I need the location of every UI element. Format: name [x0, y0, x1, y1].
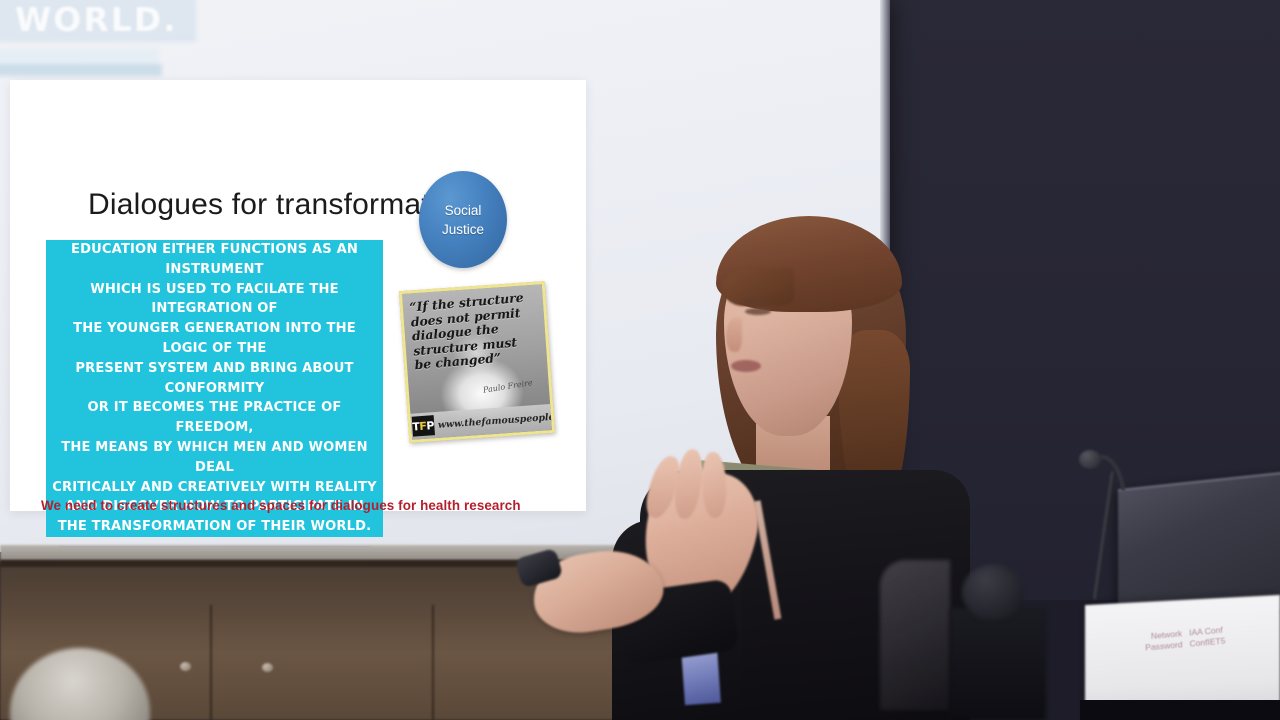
- quote-line: WHICH IS USED TO FACILATE THE INTEGRATIO…: [46, 280, 383, 320]
- freire-quote-block: EDUCATION EITHER FUNCTIONS AS AN INSTRUM…: [46, 240, 383, 565]
- presenter-eyebrow: [743, 298, 771, 302]
- microphone-windscreen: [962, 565, 1024, 620]
- presenter-eye: [745, 308, 771, 315]
- freire-photo-card: “If the structure does not permit dialog…: [399, 281, 555, 443]
- bubble-line-2: Justice: [442, 220, 484, 239]
- presenter-mouth: [731, 360, 761, 372]
- previous-slide-text: R WORLD.: [0, 0, 178, 39]
- wifi-placard-labels: Network Password: [1145, 628, 1183, 653]
- desk-panel-seam: [210, 605, 212, 720]
- presenter-nose: [726, 318, 742, 352]
- quote-line: THE MEANS BY WHICH MEN AND WOMEN DEAL: [46, 438, 383, 478]
- quote-line: PRESENT SYSTEM AND BRING ABOUT CONFORMIT…: [46, 359, 383, 399]
- previous-slide-band-3: [0, 64, 162, 76]
- desk-drawer-knob[interactable]: [262, 663, 273, 672]
- bubble-line-1: Social: [445, 201, 482, 220]
- desk-panel-seam: [432, 605, 434, 720]
- photo-card-quote: “If the structure does not permit dialog…: [409, 290, 537, 373]
- presentation-slide: Dialogues for transformation Social Just…: [10, 80, 586, 511]
- presenter-jacket-sheen: [880, 560, 950, 710]
- quote-line: EDUCATION EITHER FUNCTIONS AS AN INSTRUM…: [46, 240, 383, 280]
- photo-card-url: www.thefamouspeople.com: [438, 409, 556, 430]
- microphone-stand-base: [950, 608, 1046, 720]
- gooseneck-mic-head: [1079, 450, 1101, 469]
- slide-title: Dialogues for transformation: [88, 188, 470, 222]
- social-justice-bubble: Social Justice: [419, 171, 507, 268]
- quote-line: THE TRANSFORMATION OF THEIR WORLD.: [46, 517, 383, 537]
- wifi-placard-values: IAA Conf ConfIET5: [1189, 625, 1226, 650]
- slide-callout-text: We need to create structures and spaces …: [41, 498, 521, 513]
- quote-line: CRITICALLY AND CREATIVELY WITH REALITY: [46, 478, 383, 498]
- quote-line: OR IT BECOMES THE PRACTICE OF FREEDOM,: [46, 398, 383, 438]
- desk-drawer-knob[interactable]: [180, 662, 191, 671]
- tfp-logo-icon: TFP: [412, 415, 435, 436]
- quote-line: THE YOUNGER GENERATION INTO THE LOGIC OF…: [46, 319, 383, 359]
- podium-shadow: [1080, 700, 1280, 720]
- screenshot-stage: R WORLD. Dialogues for transformation So…: [0, 0, 1280, 720]
